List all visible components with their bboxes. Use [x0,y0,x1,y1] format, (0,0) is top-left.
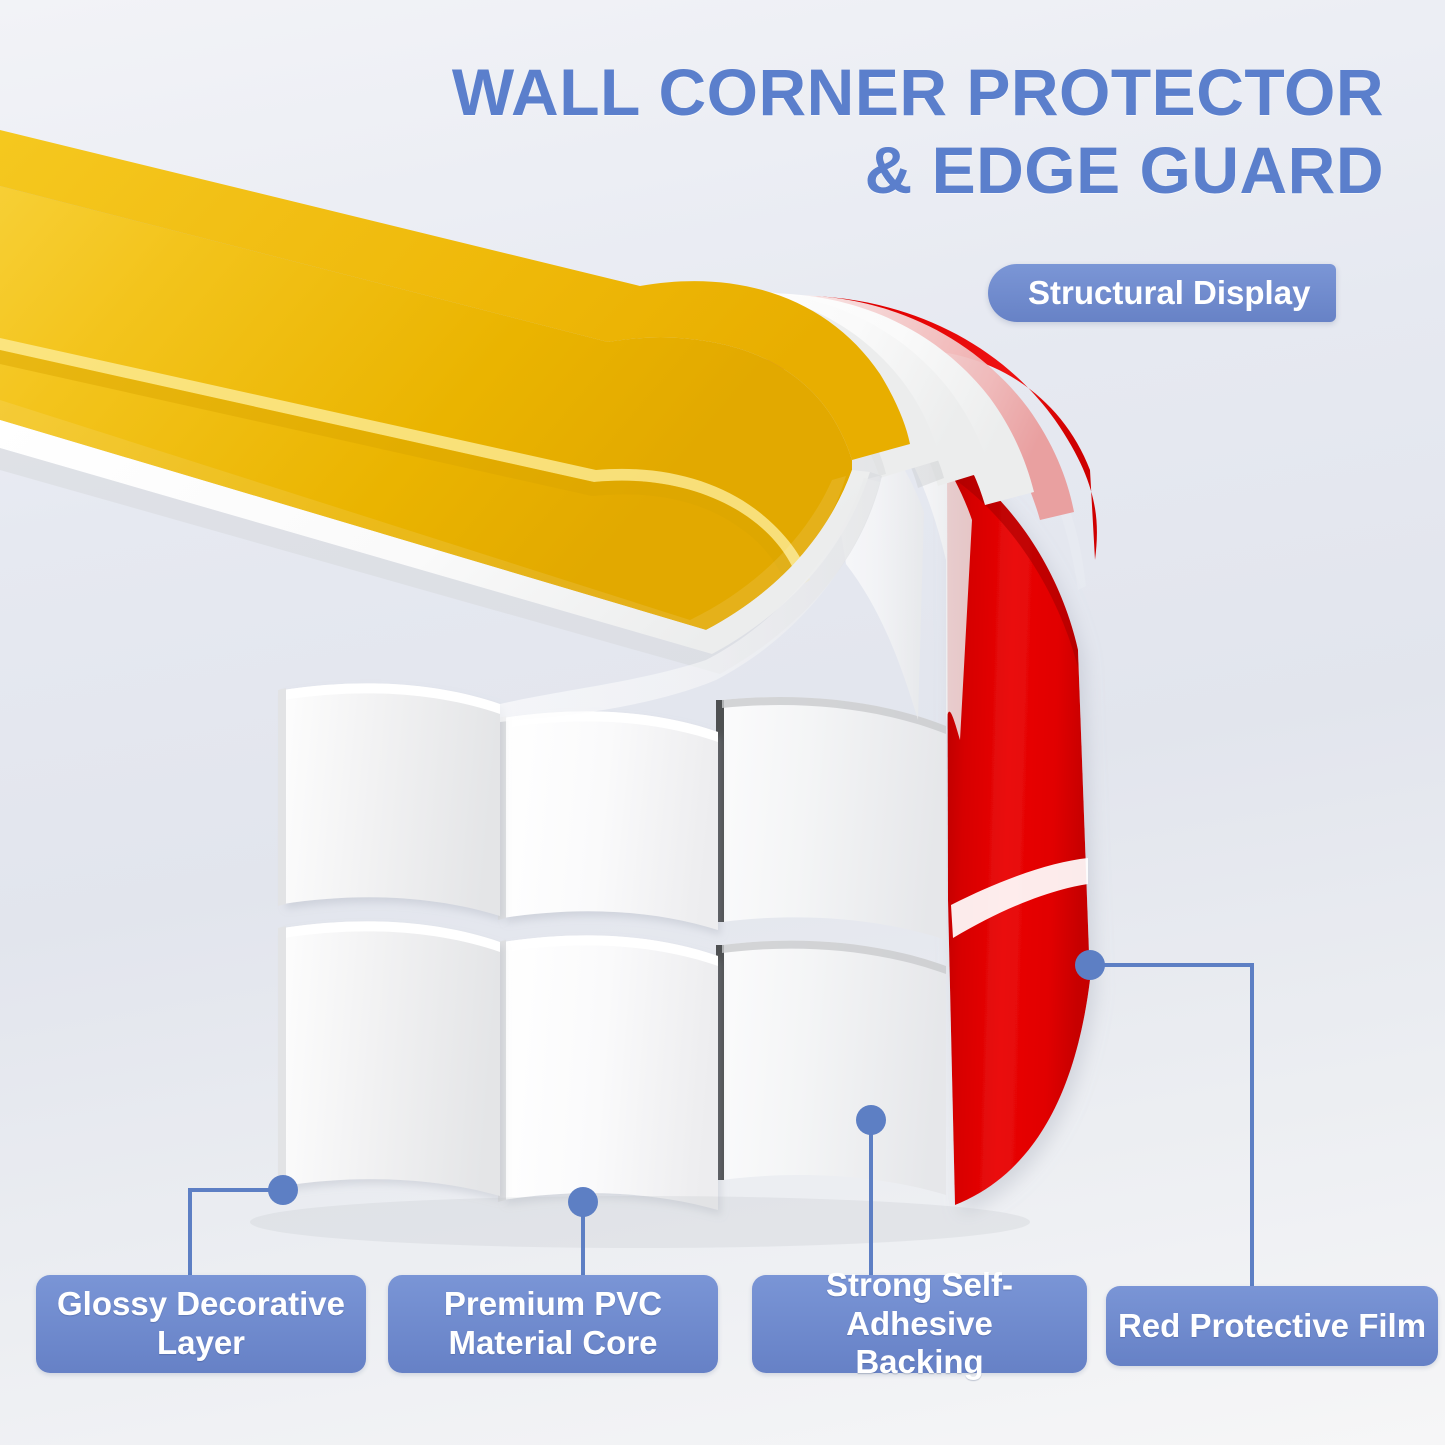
callout-pvc-line-1: Premium PVC [444,1285,662,1324]
callout-adhesive-line-2: Backing [762,1343,1077,1382]
callout-glossy-line-1: Glossy Decorative [57,1285,345,1324]
page-title: WALL CORNER PROTECTOR & EDGE GUARD [0,54,1408,210]
callout-premium-pvc-material-core: Premium PVC Material Core [388,1275,718,1373]
page-title-line-2: & EDGE GUARD [0,132,1384,210]
callout-strong-self-adhesive-backing: Strong Self-Adhesive Backing [752,1275,1087,1373]
structural-display-badge: Structural Display [988,264,1336,322]
callout-red-line-1: Red Protective Film [1118,1307,1426,1346]
structural-display-badge-label: Structural Display [1028,274,1310,312]
callout-pvc-line-2: Material Core [444,1324,662,1363]
callout-adhesive-line-1: Strong Self-Adhesive [762,1266,1077,1344]
callout-glossy-line-2: Layer [57,1324,345,1363]
product-infographic: WALL CORNER PROTECTOR & EDGE GUARD Struc… [0,0,1445,1445]
page-title-line-1: WALL CORNER PROTECTOR [0,54,1384,132]
callout-glossy-decorative-layer: Glossy Decorative Layer [36,1275,366,1373]
product-illustration [0,0,1445,1445]
callout-red-protective-film: Red Protective Film [1106,1286,1438,1366]
